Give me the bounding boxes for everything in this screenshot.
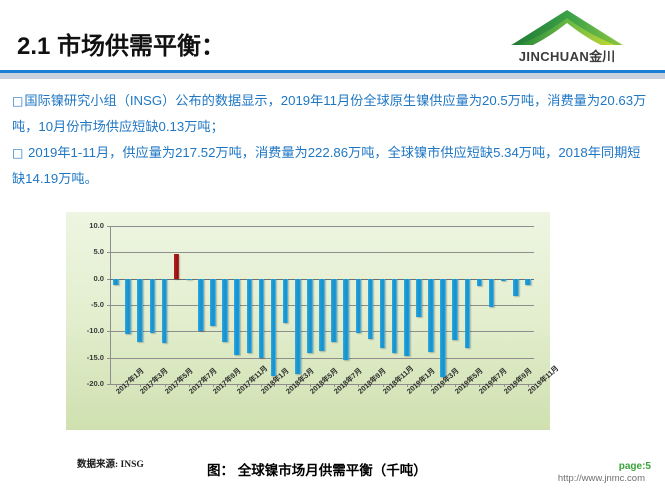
y-axis-tick-label: 0.0 <box>64 274 104 283</box>
data-source-note: 数据来源: INSG <box>77 456 144 470</box>
chart-bar <box>174 254 180 278</box>
chart-bar <box>162 279 168 344</box>
chart-bar <box>210 279 216 326</box>
chart-bar <box>343 279 349 361</box>
y-axis-tick-mark <box>107 279 110 280</box>
bullet-square-icon: □ <box>12 94 23 108</box>
y-axis-tick-label: -5.0 <box>64 300 104 309</box>
chart-bar <box>404 279 410 356</box>
header-divider-grey <box>0 73 665 79</box>
chart-bar <box>137 279 143 342</box>
chart-bar <box>356 279 362 334</box>
chart-bar <box>331 279 337 343</box>
gridline <box>110 226 534 227</box>
chart-bar <box>319 279 325 352</box>
y-axis-tick-mark <box>107 331 110 332</box>
bullet-paragraph-1: □国际镍研究小组（INSG）公布的数据显示，2019年11月份全球原生镍供应量为… <box>12 88 653 140</box>
paragraph-2-text: 2019年1-11月，供应量为217.52万吨，消费量为222.86万吨，全球镍… <box>12 145 640 186</box>
chart-bar <box>222 279 228 343</box>
logo-wordmark: JINCHUAN金川 <box>487 46 647 65</box>
slide-footer: 数据来源: INSG 图： 全球镍市场月供需平衡（千吨） page:5 http… <box>0 447 665 497</box>
y-axis-tick-label: -15.0 <box>64 353 104 362</box>
chart-bar <box>234 279 240 355</box>
paragraph-1-text: 国际镍研究小组（INSG）公布的数据显示，2019年11月份全球原生镍供应量为2… <box>12 93 646 134</box>
chart-bar <box>247 279 253 353</box>
chart-bar <box>501 279 507 281</box>
chart-bar <box>452 279 458 340</box>
chart-bar <box>440 279 446 377</box>
y-axis-tick-label: 5.0 <box>64 247 104 256</box>
logo-text-en: JINCHUAN <box>519 49 589 64</box>
chart-bar <box>150 279 156 334</box>
chart-bar <box>416 279 422 317</box>
chart-bar <box>295 279 301 374</box>
chart-bar <box>198 279 204 331</box>
chart-bar <box>186 279 192 281</box>
slide-canvas: 2.1 市场供需平衡： <box>0 0 665 497</box>
page-number-badge: page:5 <box>619 461 651 472</box>
gridline <box>110 252 534 253</box>
y-axis-tick-mark <box>107 384 110 385</box>
chart-bar <box>125 279 131 335</box>
x-axis-tick-label: 2019年11月 <box>526 364 561 397</box>
chart-bar <box>428 279 434 352</box>
y-axis-tick-label: -10.0 <box>64 326 104 335</box>
chart-bar <box>307 279 313 353</box>
website-url-link[interactable]: http://www.jnmc.com <box>558 473 645 484</box>
chart-bar <box>392 279 398 354</box>
chart-bar <box>283 279 289 323</box>
y-axis-tick-label: -20.0 <box>64 379 104 388</box>
chart-bar <box>477 279 483 286</box>
y-axis-tick-mark <box>107 252 110 253</box>
chart-bar <box>513 279 519 296</box>
y-axis-tick-mark <box>107 305 110 306</box>
chart-bar <box>380 279 386 348</box>
chart-bar <box>525 279 531 285</box>
supply-demand-bar-chart: 10.05.00.0-5.0-10.0-15.0-20.0 2017年1月201… <box>66 212 550 430</box>
y-axis-tick-label: 10.0 <box>64 221 104 230</box>
y-axis-tick-mark <box>107 358 110 359</box>
chart-bar <box>489 279 495 307</box>
jinchuan-logo: JINCHUAN金川 <box>487 8 647 66</box>
chart-bar <box>368 279 374 340</box>
chart-bar <box>259 279 265 358</box>
page-title: 2.1 市场供需平衡： <box>17 26 225 61</box>
gridline <box>110 358 534 359</box>
chart-plot-area: 10.05.00.0-5.0-10.0-15.0-20.0 2017年1月201… <box>110 226 534 384</box>
slide-header: 2.1 市场供需平衡： <box>0 0 665 70</box>
bullet-paragraph-2: □ 2019年1-11月，供应量为217.52万吨，消费量为222.86万吨，全… <box>12 140 653 192</box>
content-text-block: □国际镍研究小组（INSG）公布的数据显示，2019年11月份全球原生镍供应量为… <box>12 88 653 196</box>
bullet-square-icon: □ <box>12 146 23 160</box>
y-axis-tick-mark <box>107 226 110 227</box>
figure-caption: 图： 全球镍市场月供需平衡（千吨） <box>207 459 427 479</box>
chart-bar <box>465 279 471 349</box>
logo-text-cn: 金川 <box>589 49 615 64</box>
chart-bar <box>271 279 277 376</box>
chart-bar <box>113 279 119 285</box>
mountain-logo-icon <box>509 8 625 46</box>
